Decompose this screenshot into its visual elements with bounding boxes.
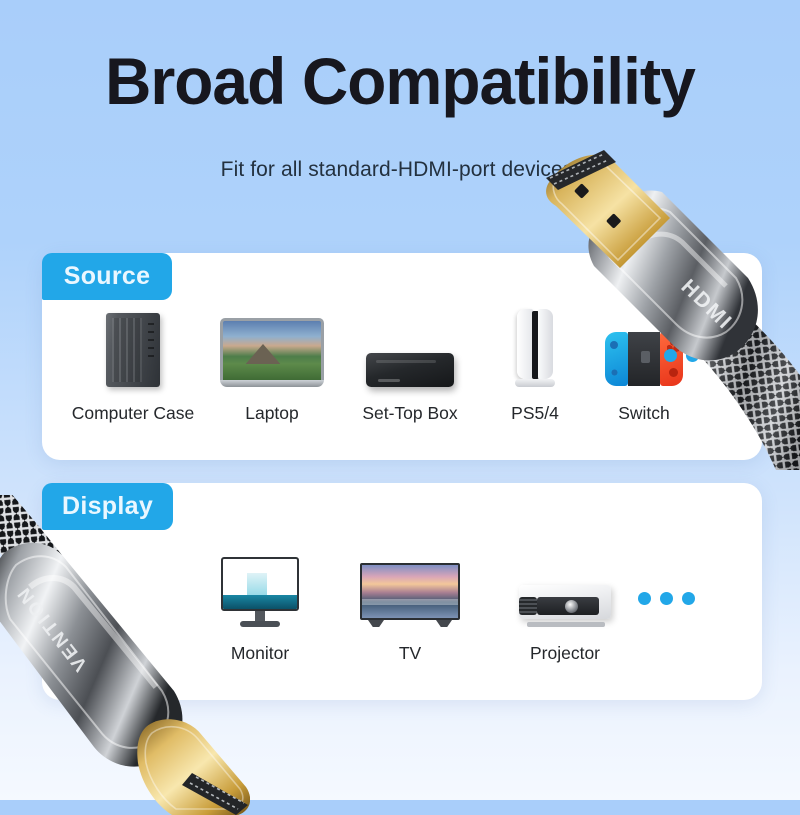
device-set-top-box: Set-Top Box	[338, 305, 482, 424]
monitor-icon	[221, 545, 299, 627]
device-laptop: Laptop	[206, 305, 338, 424]
page-subtitle: Fit for all standard-HDMI-port devices.	[0, 158, 800, 182]
device-switch: Switch	[588, 305, 700, 424]
device-label: Set-Top Box	[362, 403, 457, 424]
projector-icon	[513, 545, 617, 627]
laptop-icon	[220, 305, 324, 387]
device-label: Computer Case	[72, 403, 195, 424]
device-label: Monitor	[231, 643, 289, 664]
television-icon	[360, 545, 460, 627]
device-playstation: PS5/4	[482, 305, 588, 424]
display-more-dots-icon	[638, 592, 695, 605]
device-label: TV	[399, 643, 421, 664]
source-more-dots-icon	[664, 349, 721, 362]
device-computer-case: Computer Case	[60, 305, 206, 424]
device-label: PS5/4	[511, 403, 559, 424]
device-projector: Projector	[485, 545, 645, 664]
device-label: Switch	[618, 403, 670, 424]
nintendo-switch-icon	[602, 305, 686, 387]
badge-display: Display	[42, 483, 173, 530]
source-device-row: Computer Case Laptop Set-Top Box PS5/4 S…	[60, 305, 720, 424]
set-top-box-icon	[366, 305, 454, 387]
page-title: Broad Compatibility	[12, 48, 788, 114]
display-device-row: Monitor TV Projector	[185, 545, 705, 664]
device-label: Projector	[530, 643, 600, 664]
device-label: Laptop	[245, 403, 299, 424]
device-tv: TV	[335, 545, 485, 664]
device-monitor: Monitor	[185, 545, 335, 664]
computer-tower-icon	[106, 305, 160, 387]
badge-source: Source	[42, 253, 172, 300]
playstation-console-icon	[515, 305, 555, 387]
